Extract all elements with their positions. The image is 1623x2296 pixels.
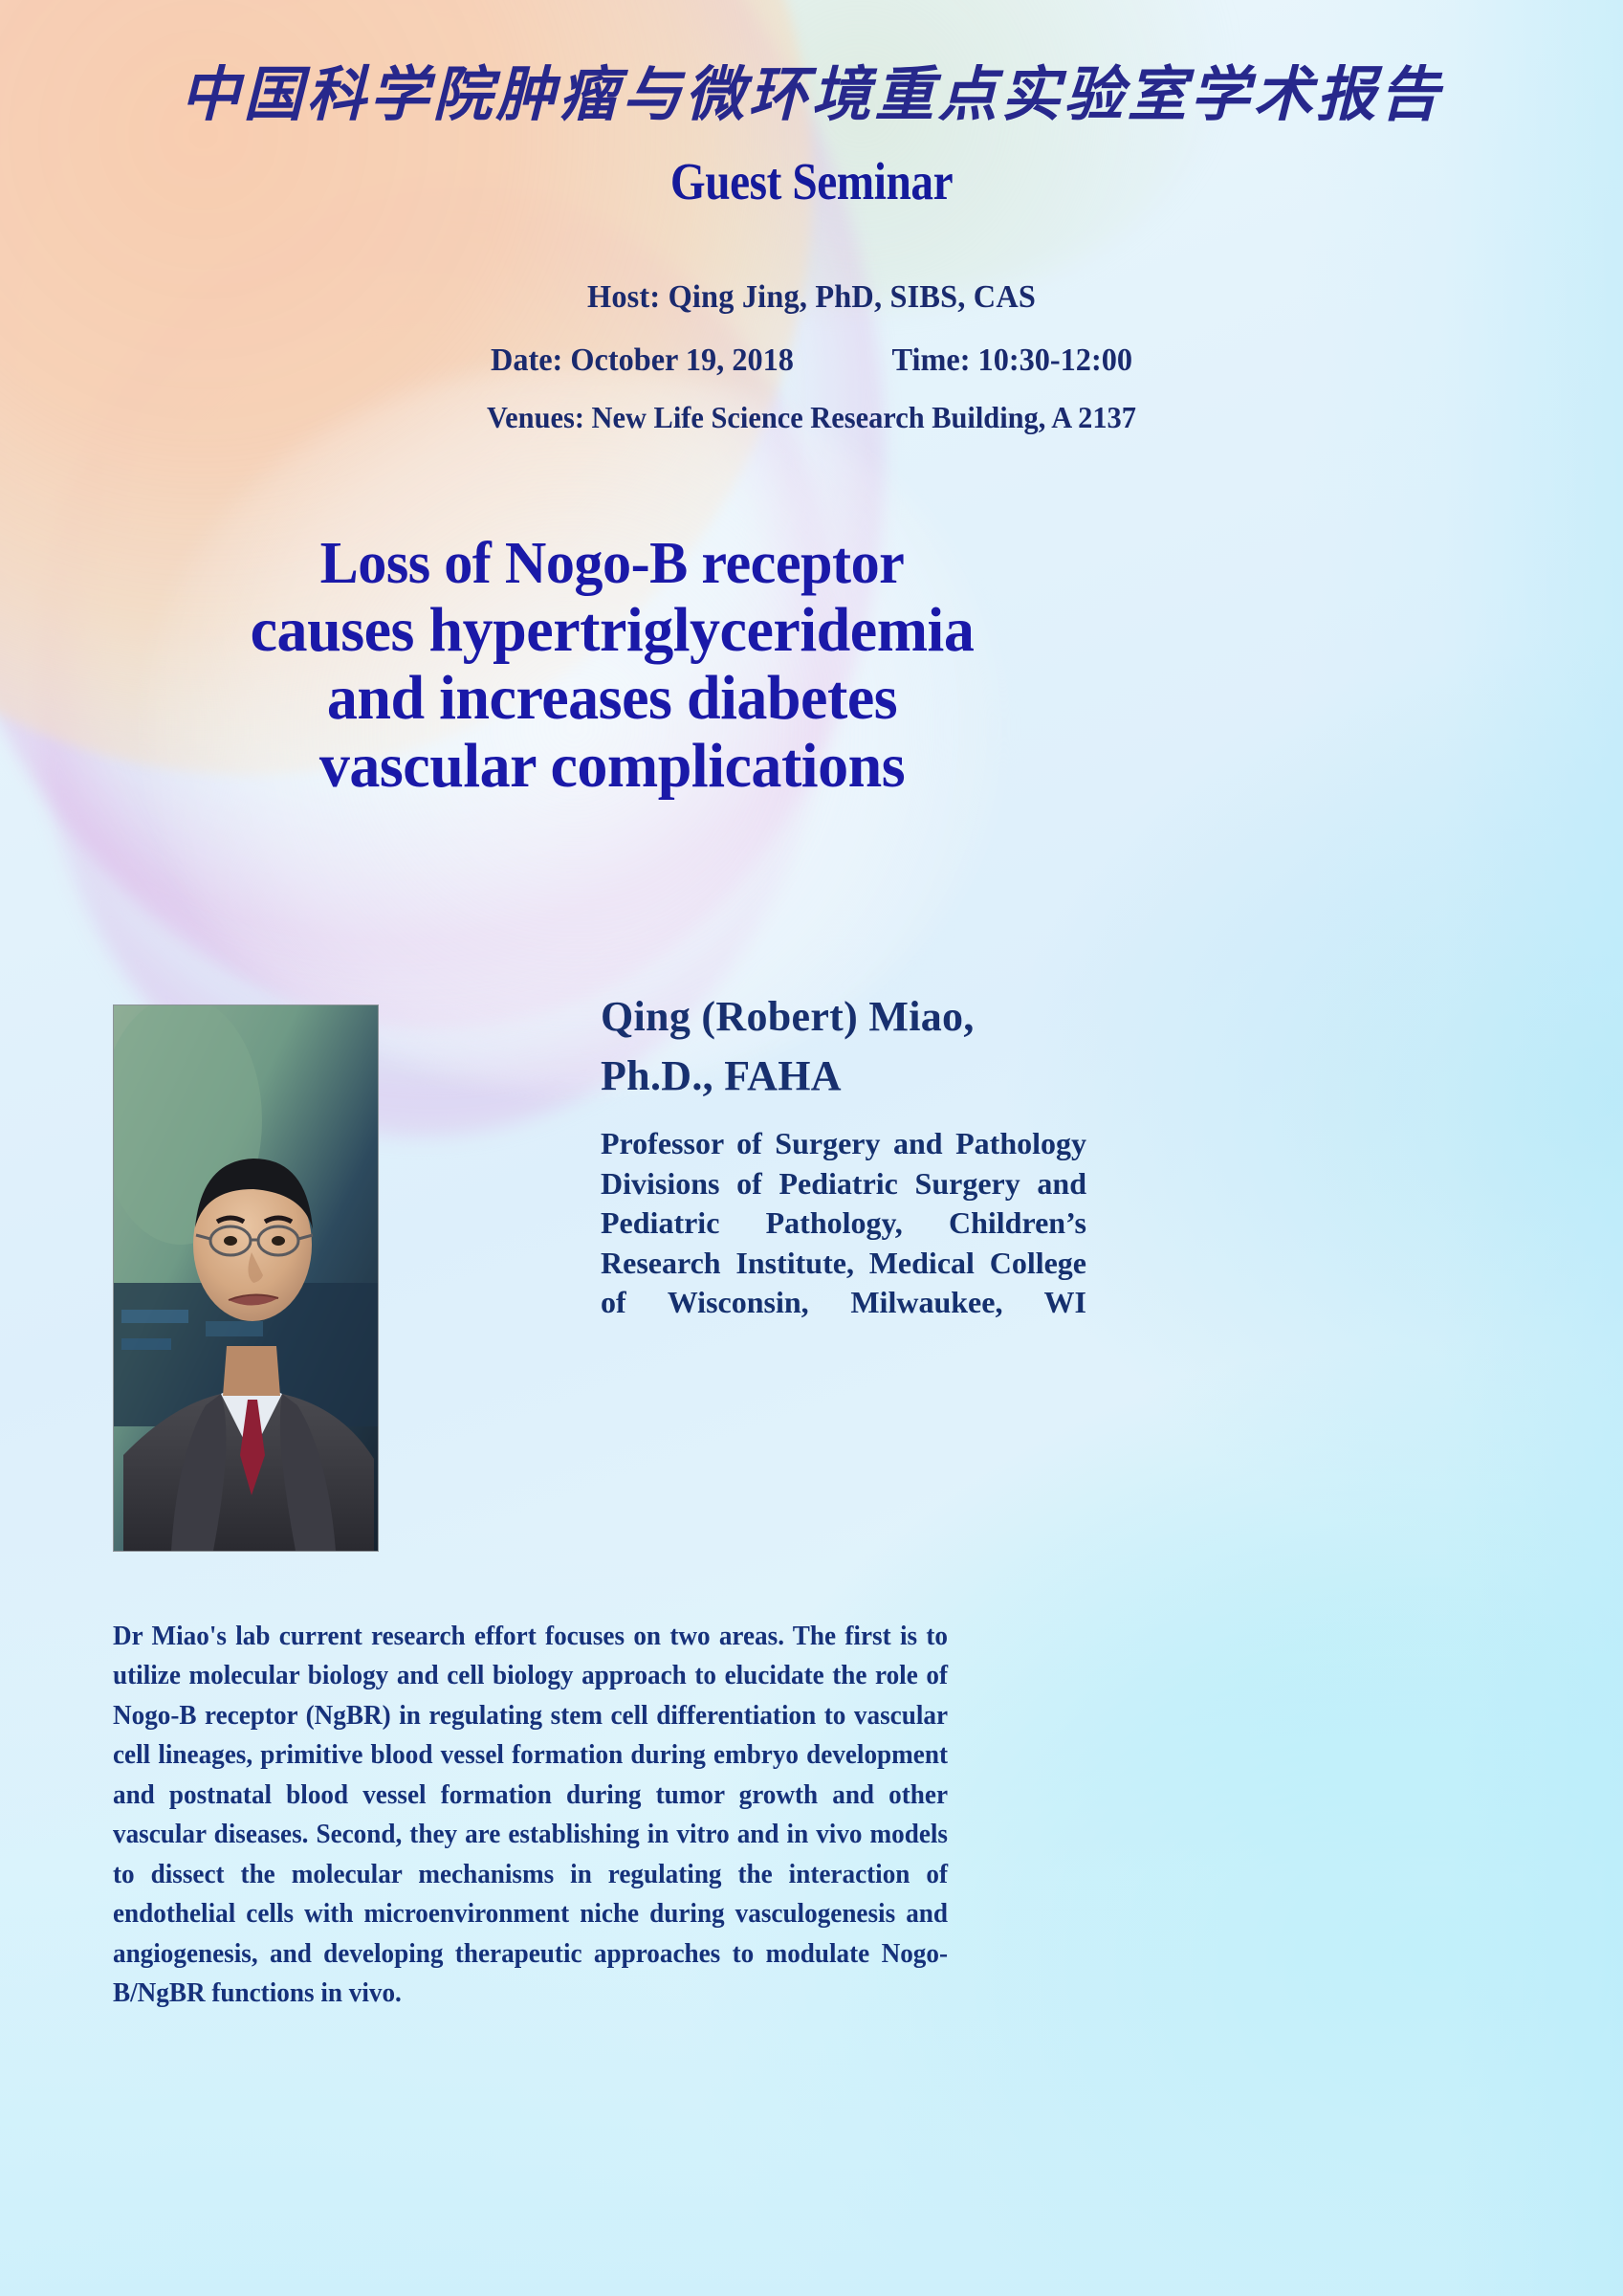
speaker-info: Qing (Robert) Miao, Ph.D., FAHA Professo… <box>601 987 1086 1323</box>
seminar-heading: Guest Seminar <box>114 151 1509 211</box>
talk-title-line-3: and increases diabetes <box>139 664 1085 732</box>
talk-title: Loss of Nogo-B receptor causes hypertrig… <box>139 532 1085 801</box>
time-line: Time: 10:30-12:00 <box>892 342 1132 379</box>
date-time-row: Date: October 19, 2018 Time: 10:30-12:00 <box>40 342 1582 379</box>
seminar-poster: 中国科学院肿瘤与微环境重点实验室学术报告 Guest Seminar Host:… <box>0 0 1623 2296</box>
date-line: Date: October 19, 2018 <box>491 342 794 379</box>
event-info-block: Host: Qing Jing, PhD, SIBS, CAS Date: Oc… <box>0 279 1623 435</box>
talk-title-line-2: causes hypertriglyceridemia <box>139 596 1085 664</box>
speaker-name-line-2: Ph.D., FAHA <box>601 1047 1086 1106</box>
talk-title-line-1: Loss of Nogo-B receptor <box>139 532 1085 596</box>
speaker-name-line-1: Qing (Robert) Miao, <box>601 987 1086 1047</box>
speaker-portrait-photo <box>113 1004 379 1552</box>
speaker-affiliation: Professor of Surgery and Pathology Divis… <box>601 1124 1086 1323</box>
host-line: Host: Qing Jing, PhD, SIBS, CAS <box>40 279 1582 316</box>
abstract-text: Dr Miao's lab current research effort fo… <box>113 1617 948 2013</box>
speaker-name: Qing (Robert) Miao, Ph.D., FAHA <box>601 987 1086 1107</box>
chinese-lab-title: 中国科学院肿瘤与微环境重点实验室学术报告 <box>0 46 1623 132</box>
talk-title-line-4: vascular complications <box>139 732 1085 800</box>
venue-line: Venues: New Life Science Research Buildi… <box>40 400 1582 435</box>
